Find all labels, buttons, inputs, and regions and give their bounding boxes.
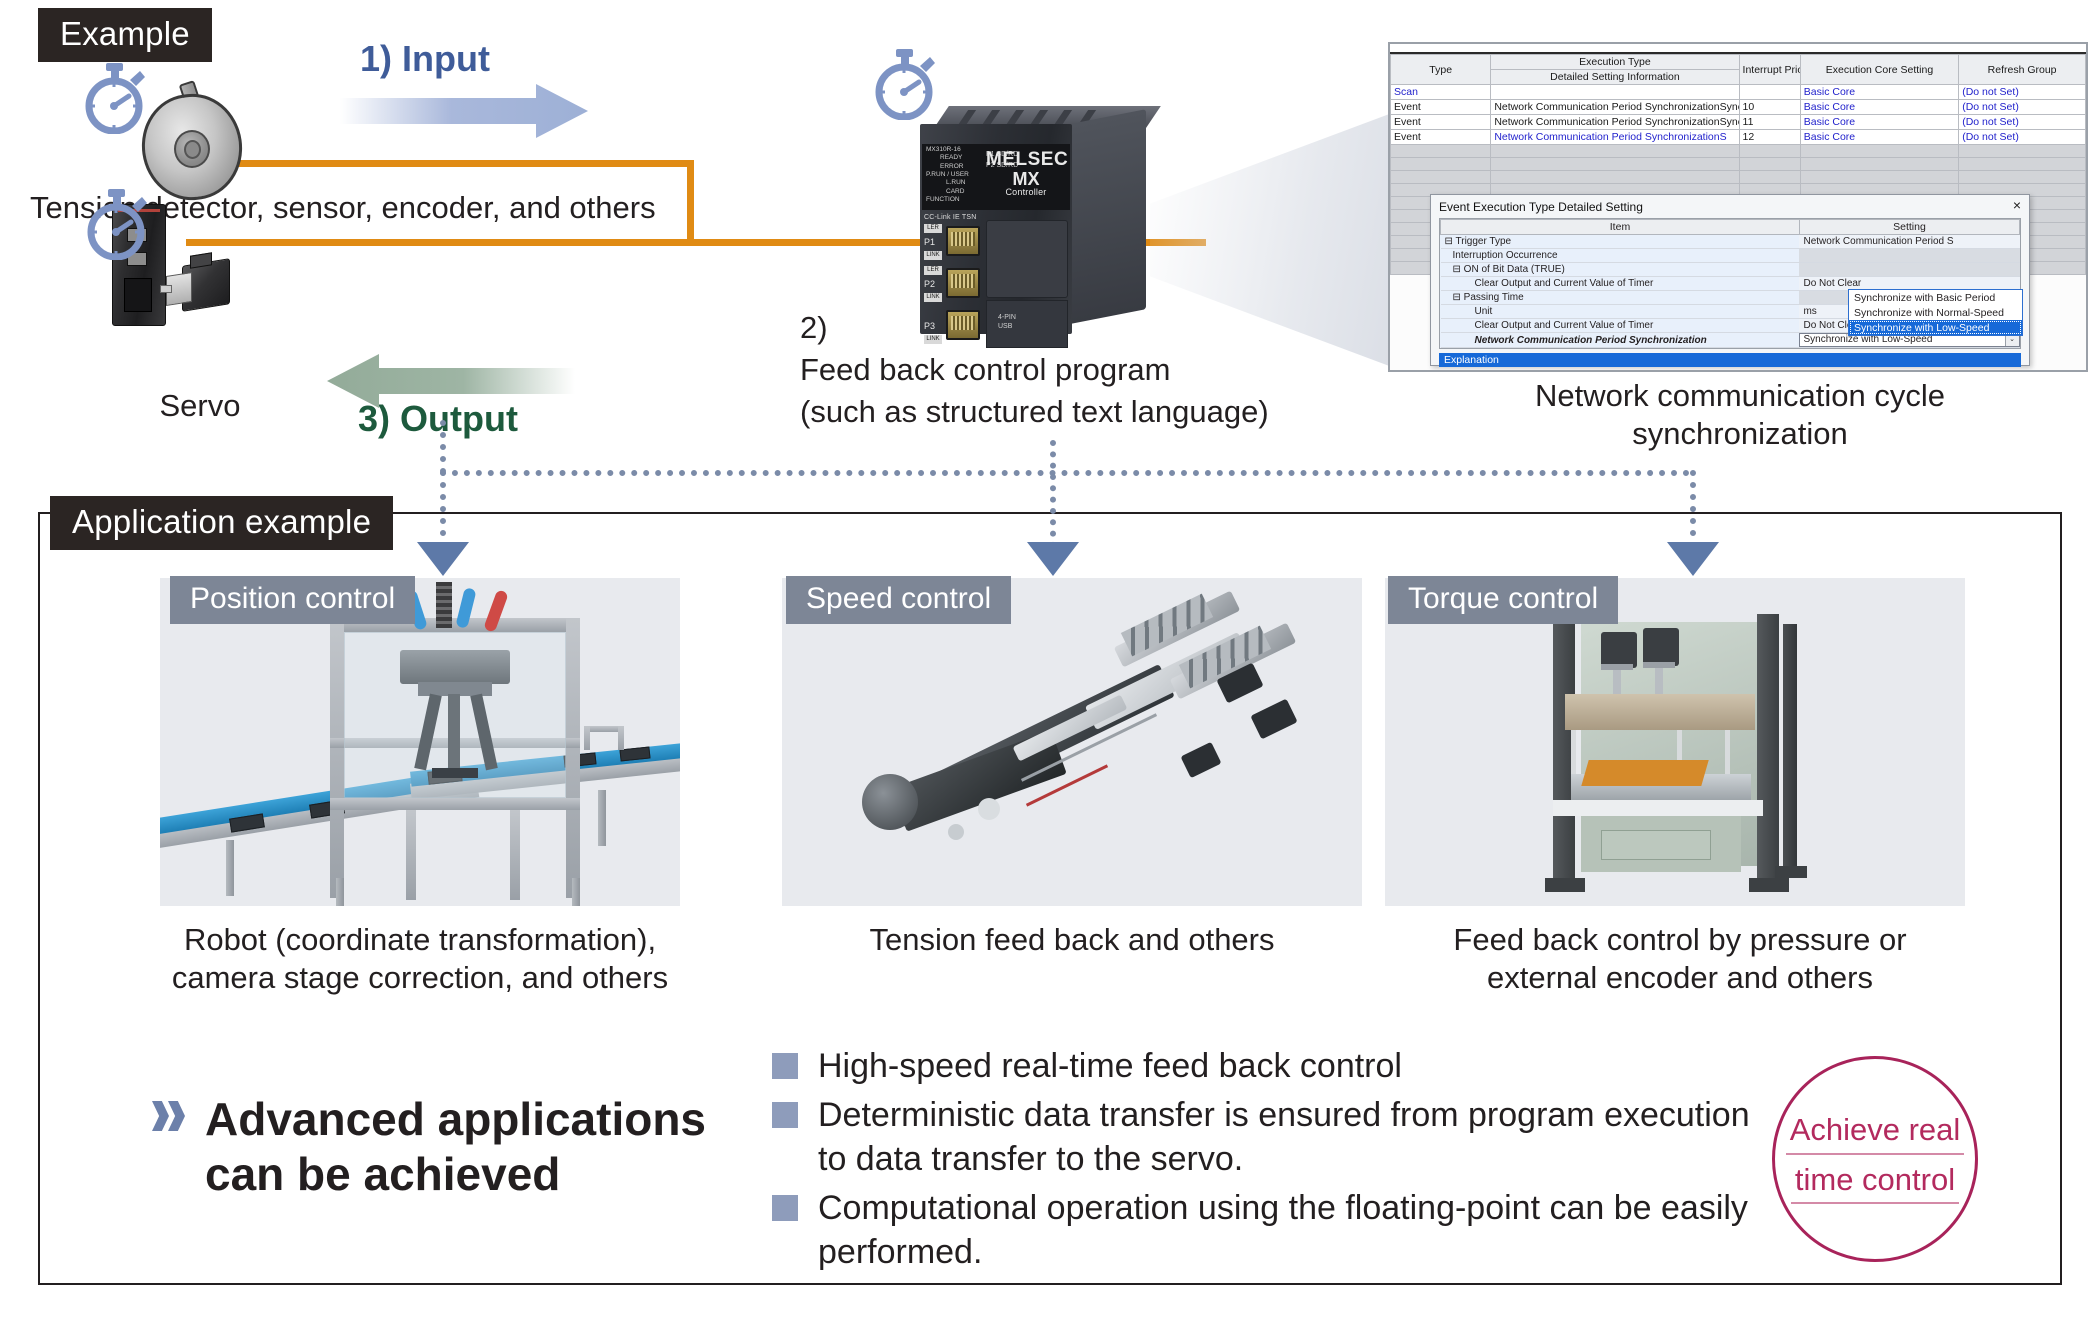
cell-detail[interactable]: Network Communication Period Synchroniza…: [1491, 115, 1739, 130]
arrow-down-torque: [1667, 542, 1719, 576]
cell-detail[interactable]: Network Communication Period Synchroniza…: [1491, 100, 1739, 115]
header-execution-type-group: Execution Type: [1491, 55, 1739, 70]
table-row[interactable]: Scan Basic Core (Do not Set): [1391, 85, 2086, 100]
bullet-text: High-speed real-time feed back control: [818, 1047, 1402, 1085]
plc-usb-label: 4-PIN USB: [998, 314, 1016, 332]
dialog-header-setting: Setting: [1799, 220, 2019, 235]
table-group-header-row: Type Execution Type Interrupt Priority E…: [1391, 55, 2086, 70]
input-label: 1) Input: [360, 38, 490, 80]
expander-icon[interactable]: ⊟: [1453, 292, 1461, 303]
dialog-row[interactable]: Interruption Occurrence: [1441, 249, 2020, 263]
dialog-item-label: Unit: [1441, 305, 1800, 319]
dialog-item-label: Network Communication Period Synchroniza…: [1441, 333, 1800, 348]
connector-vertical-left-down: [440, 470, 446, 548]
cell-type[interactable]: Event: [1391, 130, 1491, 145]
plc-port-p2: LER P2 LINK: [924, 266, 988, 304]
header-type: Type: [1391, 55, 1491, 85]
caption-position-control-line2: camera stage correction, and others: [60, 958, 780, 998]
cell-priority[interactable]: [1739, 85, 1800, 100]
dialog-item-label: Clear Output and Current Value of Timer: [1441, 319, 1800, 333]
dialog-row[interactable]: ⊟ ON of Bit Data (TRUE): [1441, 263, 2020, 277]
servo-caption: Servo: [110, 386, 290, 426]
list-item: Deterministic data transfer is ensured f…: [770, 1093, 1750, 1182]
window-top-border: [1390, 44, 2086, 54]
dialog-setting-value[interactable]: Network Communication Period S: [1799, 235, 2019, 249]
bullet-square-icon: [772, 1102, 798, 1128]
sync-dropdown-list[interactable]: Synchronize with Basic Period Synchroniz…: [1848, 289, 2023, 336]
cell-priority[interactable]: 12: [1739, 130, 1800, 145]
stopwatch-icon: [84, 188, 150, 265]
cell-refresh[interactable]: (Do not Set): [1959, 85, 2086, 100]
bullet-text: Computational operation using the floati…: [818, 1189, 1748, 1272]
plc-led-block: MX310R-16 READY ERROR P.RUN / USER L.RUN…: [926, 146, 982, 204]
caption-speed-control: Tension feed back and others: [782, 920, 1362, 960]
connector-horizontal: [440, 470, 1690, 476]
servo-motor-illustration: [160, 252, 242, 320]
cell-refresh[interactable]: (Do not Set): [1959, 130, 2086, 145]
encoder-illustration: [136, 80, 248, 202]
table-row-empty: [1391, 145, 2086, 158]
dialog-header-item: Item: [1441, 220, 1800, 235]
dialog-row[interactable]: ⊟ Trigger Type Network Communication Per…: [1441, 235, 2020, 249]
header-detailed-setting-information: Detailed Setting Information: [1491, 70, 1739, 85]
cell-detail[interactable]: [1491, 85, 1739, 100]
header-execution-core-setting: Execution Core Setting: [1800, 55, 1958, 85]
step2-line2: (such as structured text language): [800, 392, 1360, 432]
cell-refresh[interactable]: (Do not Set): [1959, 115, 2086, 130]
cell-type[interactable]: Scan: [1391, 85, 1491, 100]
software-caption-line1: Network communication cycle: [1390, 376, 2090, 416]
wire-sensor-to-plc: [218, 160, 694, 167]
list-item: Computational operation using the floati…: [770, 1186, 1750, 1275]
header-refresh-group: Refresh Group: [1959, 55, 2086, 85]
dialog-setting-value: [1799, 263, 2019, 277]
photo-torque-control: [1385, 578, 1965, 906]
dialog-item-label: ⊟ Passing Time: [1441, 291, 1800, 305]
tag-speed-control: Speed control: [786, 576, 1011, 624]
engineering-software-screenshot[interactable]: Type Execution Type Interrupt Priority E…: [1388, 42, 2088, 372]
table-row-selected[interactable]: Event Network Communication Period Synch…: [1391, 130, 2086, 145]
bullet-square-icon: [772, 1195, 798, 1221]
dropdown-option[interactable]: Synchronize with Basic Period: [1849, 290, 2022, 305]
plc-brand-plate: MELSEC MX Controller: [986, 150, 1066, 198]
stopwatch-icon: [82, 62, 148, 139]
wire-vertical-join: [687, 160, 694, 245]
badge-line1: Achieve real: [1786, 1114, 1965, 1155]
connector-vertical-right: [1690, 470, 1696, 548]
rj45-jack-icon: [946, 310, 980, 340]
application-example-tag: Application example: [50, 496, 393, 550]
dialog-item-label: ⊟ Trigger Type: [1441, 235, 1800, 249]
cell-core[interactable]: Basic Core: [1800, 100, 1958, 115]
cell-priority[interactable]: 11: [1739, 115, 1800, 130]
cell-detail-selected[interactable]: Network Communication Period Synchroniza…: [1491, 130, 1739, 145]
dialog-item-label: Interruption Occurrence: [1441, 249, 1800, 263]
event-execution-detail-dialog[interactable]: Event Execution Type Detailed Setting × …: [1430, 194, 2030, 366]
advanced-line1: Advanced applications: [205, 1092, 725, 1147]
cell-core[interactable]: Basic Core: [1800, 130, 1958, 145]
connector-vertical-left: [440, 420, 446, 474]
caption-position-control-line1: Robot (coordinate transformation),: [60, 920, 780, 960]
dialog-item-label: ⊟ ON of Bit Data (TRUE): [1441, 263, 1800, 277]
bullet-text: Deterministic data transfer is ensured f…: [818, 1096, 1750, 1179]
dropdown-option-selected[interactable]: Synchronize with Low-Speed: [1849, 320, 2022, 335]
example-tag: Example: [38, 8, 212, 62]
table-row-empty: [1391, 171, 2086, 184]
cell-core[interactable]: Basic Core: [1800, 115, 1958, 130]
table-row-empty: [1391, 158, 2086, 171]
double-chevron-icon: [152, 1101, 202, 1143]
dialog-header-row: Item Setting: [1441, 220, 2020, 235]
expander-icon[interactable]: ⊟: [1453, 264, 1461, 275]
bullet-square-icon: [772, 1053, 798, 1079]
close-icon[interactable]: ×: [2013, 198, 2021, 212]
feature-bullet-list: High-speed real-time feed back control D…: [770, 1044, 1750, 1279]
table-row[interactable]: Event Network Communication Period Synch…: [1391, 115, 2086, 130]
software-caption-line2: synchronization: [1390, 414, 2090, 454]
tag-position-control: Position control: [170, 576, 415, 624]
cell-type[interactable]: Event: [1391, 100, 1491, 115]
cell-core[interactable]: Basic Core: [1800, 85, 1958, 100]
plc-network-label: CC-Link IE TSN: [924, 214, 976, 221]
input-arrow: [340, 82, 590, 145]
arrow-down-position: [417, 542, 469, 576]
explanation-header: Explanation: [1439, 353, 2021, 367]
plc-port-p1: LER P1 LINK: [924, 224, 988, 262]
advanced-applications-heading: Advanced applications can be achieved: [205, 1092, 725, 1202]
plc-port-p3: P3 LINK: [924, 308, 988, 346]
step2-line1: Feed back control program: [800, 350, 1320, 390]
infographic-page: Example Tension detector, sensor, encode…: [0, 0, 2100, 1321]
achieve-real-time-control-badge: Achieve real time control: [1772, 1056, 1978, 1262]
cell-priority[interactable]: 10: [1739, 100, 1800, 115]
caption-torque-control-line1: Feed back control by pressure or: [1350, 920, 2010, 960]
dialog-title: Event Execution Type Detailed Setting: [1431, 195, 2029, 218]
rj45-jack-icon: [946, 268, 980, 298]
photo-speed-control: [782, 578, 1362, 906]
caption-torque-control-line2: external encoder and others: [1350, 958, 2010, 998]
stopwatch-icon: [872, 48, 938, 125]
table-row[interactable]: Event Network Communication Period Synch…: [1391, 100, 2086, 115]
arrow-down-speed: [1027, 542, 1079, 576]
plc-controller-illustration: MX310R-16 READY ERROR P.RUN / USER L.RUN…: [920, 106, 1160, 336]
advanced-line2: can be achieved: [205, 1147, 725, 1202]
tag-torque-control: Torque control: [1388, 576, 1618, 624]
dialog-setting-value: [1799, 249, 2019, 263]
output-arrow: [325, 352, 575, 415]
list-item: High-speed real-time feed back control: [770, 1044, 1750, 1089]
expander-icon[interactable]: ⊟: [1445, 236, 1453, 247]
explanation-body: Set the trigger type of event execution …: [1439, 367, 2021, 372]
rj45-jack-icon: [946, 226, 980, 256]
cell-refresh[interactable]: (Do not Set): [1959, 100, 2086, 115]
dropdown-option[interactable]: Synchronize with Normal-Speed: [1849, 305, 2022, 320]
dialog-item-label: Clear Output and Current Value of Timer: [1441, 277, 1800, 291]
badge-line2: time control: [1791, 1164, 1959, 1205]
connector-vertical-mid: [1050, 440, 1056, 548]
header-interrupt-priority: Interrupt Priority: [1739, 55, 1800, 85]
photo-position-control: [160, 578, 680, 906]
cell-type[interactable]: Event: [1391, 115, 1491, 130]
